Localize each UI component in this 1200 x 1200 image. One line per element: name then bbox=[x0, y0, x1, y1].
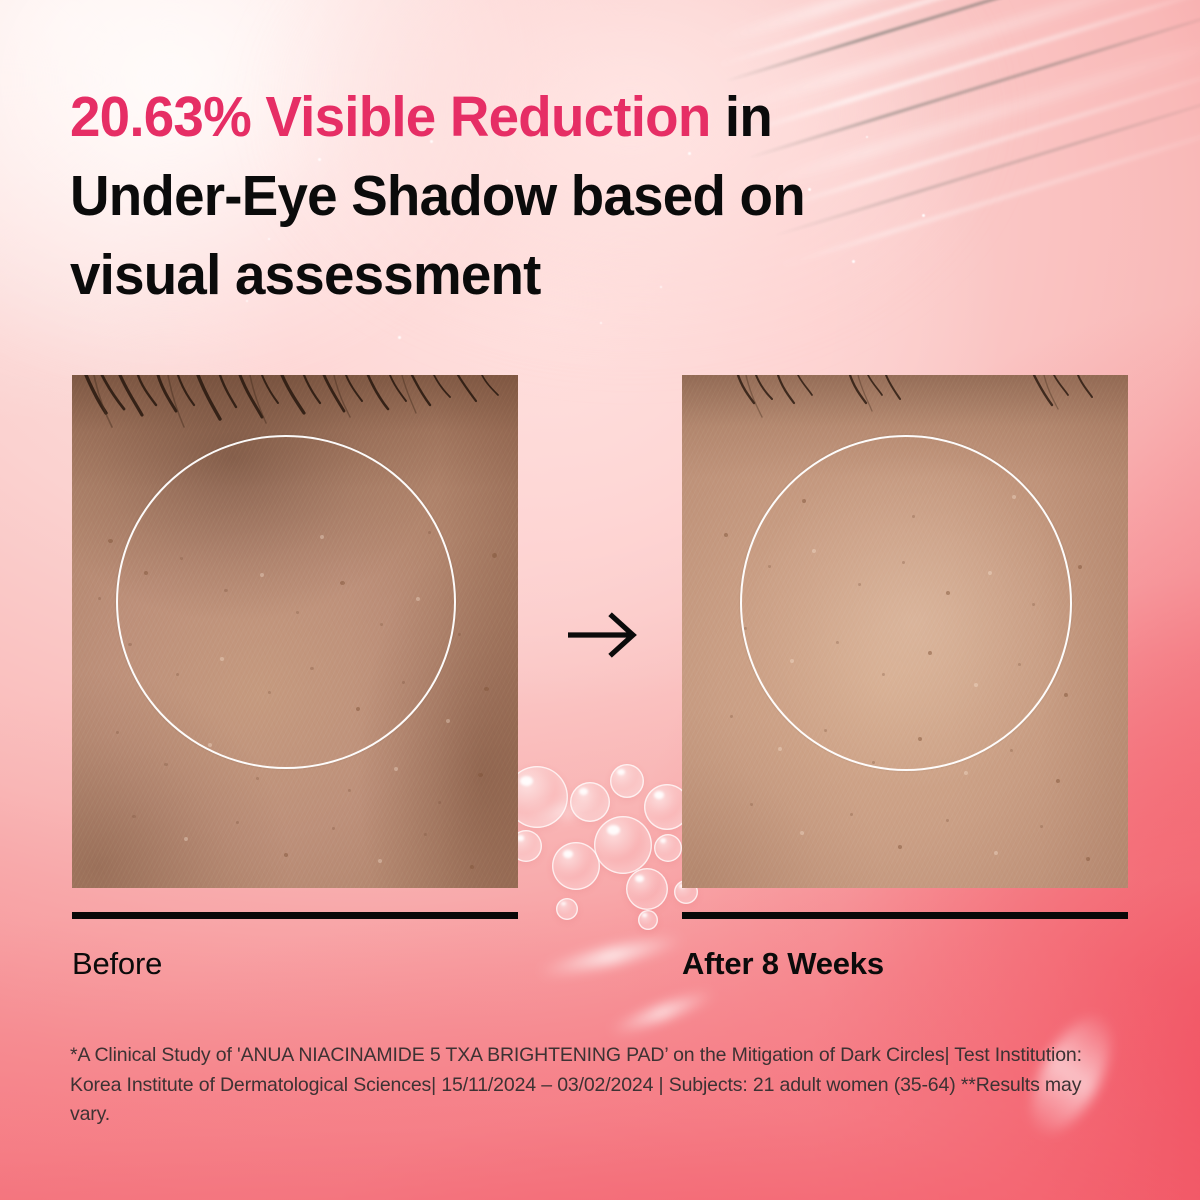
footnote-disclaimer: *A Clinical Study of 'ANUA NIACINAMIDE 5… bbox=[70, 1041, 1088, 1130]
before-divider bbox=[72, 912, 518, 919]
after-caption: After 8 Weeks bbox=[682, 946, 884, 982]
infographic-canvas: 20.63% Visible Reduction inUnder-Eye Sha… bbox=[0, 0, 1200, 1200]
after-divider bbox=[682, 912, 1128, 919]
before-photo bbox=[72, 375, 518, 888]
footnote-line-1: *A Clinical Study of 'ANUA NIACINAMIDE 5… bbox=[70, 1044, 989, 1066]
before-caption: Before bbox=[72, 946, 162, 982]
circle-outline-icon bbox=[116, 435, 456, 769]
after-photo bbox=[682, 375, 1128, 888]
arrow-right-icon bbox=[568, 612, 642, 658]
circle-outline-icon bbox=[740, 435, 1072, 771]
